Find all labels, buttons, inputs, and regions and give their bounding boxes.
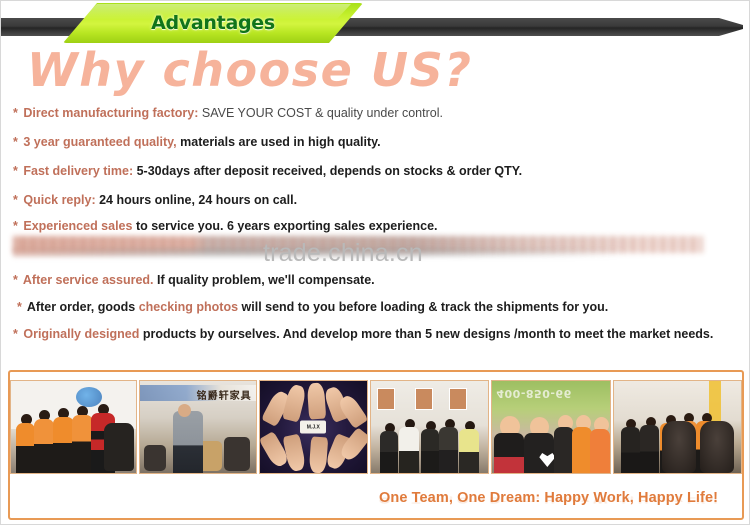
tagline: One Team, One Dream: Happy Work, Happy L…	[379, 490, 718, 506]
list-item: * Experienced sales to service you. 6 ye…	[13, 219, 438, 235]
list-item: * Quick reply: 24 hours online, 24 hours…	[13, 193, 297, 209]
bullet-highlight: After service assured.	[23, 273, 154, 287]
bullet-highlight: Fast delivery time:	[23, 164, 133, 178]
list-item: * Originally designed products by oursel…	[13, 327, 713, 343]
advantages-page: Advantages Why choose US? * Direct manuf…	[0, 0, 750, 525]
bullet-star: *	[13, 135, 18, 149]
header-banner: Advantages	[1, 1, 750, 46]
hands-card-text: M.J.X	[300, 421, 326, 434]
redacted-contact-strip-shadow	[13, 248, 653, 257]
bullet-text: products by ourselves. And develop more …	[143, 327, 714, 341]
list-item: * Direct manufacturing factory: SAVE YOU…	[13, 106, 443, 122]
wall-logo-icon	[76, 387, 102, 407]
gallery-photo-exhibition-booth[interactable]: 铭爵轩家具	[139, 380, 256, 474]
list-item: * After service assured. If quality prob…	[13, 273, 375, 289]
list-item: * 3 year guaranteed quality, materials a…	[13, 135, 381, 151]
bullet-highlight: checking photos	[139, 300, 238, 314]
gallery-photo-staff-team[interactable]	[10, 380, 137, 474]
list-item: * After order, goods checking photos wil…	[17, 300, 608, 316]
bullet-highlight: Direct manufacturing factory:	[23, 106, 198, 120]
bullet-star: *	[13, 164, 18, 178]
bullet-text: will send to you before loading & track …	[242, 300, 609, 314]
hotline-number-text: 400-850-66	[496, 387, 571, 400]
bullet-text: 24 hours online, 24 hours on call.	[99, 193, 297, 207]
bullet-highlight: Experienced sales	[23, 219, 132, 233]
gallery-photo-smiling-colleagues[interactable]: 400-850-66	[491, 380, 610, 474]
bullet-star: *	[17, 300, 22, 314]
gallery-photo-staff-lineup[interactable]	[613, 380, 742, 474]
bullet-highlight: Quick reply:	[23, 193, 95, 207]
gallery-photo-hands-circle[interactable]: M.J.X	[259, 380, 368, 474]
bullet-star: *	[13, 193, 18, 207]
list-item: * Fast delivery time: 5-30days after dep…	[13, 164, 522, 180]
bullet-highlight: Originally designed	[23, 327, 139, 341]
bullet-lead-text: After order, goods	[27, 300, 135, 314]
bullet-star: *	[13, 219, 18, 233]
bullet-text: If quality problem, we'll compensate.	[157, 273, 375, 287]
banner-title: Advantages	[63, 3, 363, 43]
bullet-text: SAVE YOUR COST & quality under control.	[202, 106, 443, 120]
booth-sign-text: 铭爵轩家具	[197, 387, 252, 402]
bullet-star: *	[13, 106, 18, 120]
page-title: Why choose US?	[27, 43, 472, 97]
photo-gallery: 铭爵轩家具 M.J.X	[10, 380, 742, 474]
bullet-star: *	[13, 273, 18, 287]
bullet-highlight: 3 year guaranteed quality,	[23, 135, 176, 149]
bullet-text: materials are used in high quality.	[180, 135, 381, 149]
bullet-text: 5-30days after deposit received, depends…	[137, 164, 523, 178]
bullet-star: *	[13, 327, 18, 341]
gallery-photo-showroom-group[interactable]	[370, 380, 489, 474]
bullet-text: to service you. 6 years exporting sales …	[136, 219, 438, 233]
